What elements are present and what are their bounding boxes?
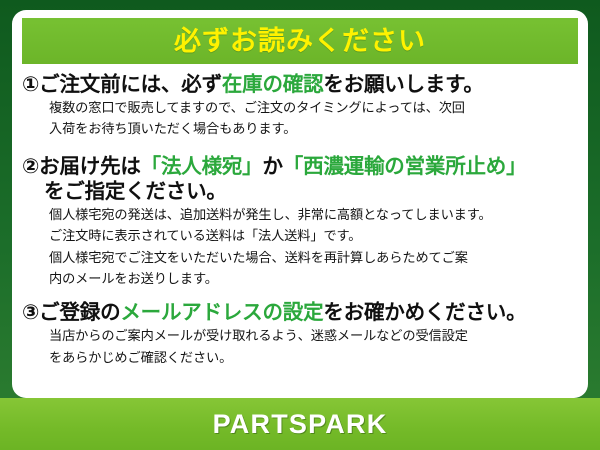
notice-item-3-heading: ③ご登録のメールアドレスの設定をお確かめください。 (22, 300, 578, 325)
spacer-1 (22, 142, 578, 154)
notice-item-1-sub-line-1: 複数の窓口で販売してますので、ご注文のタイミングによっては、次回 (22, 97, 578, 118)
notice-item-3-sub-line-1: 当店からのご案内メールが受け取れるよう、迷惑メールなどの受信設定 (22, 325, 578, 346)
item-1-text-after: をお願いします。 (323, 73, 483, 96)
notice-item-3: ③ご登録のメールアドレスの設定をお確かめください。 当店からのご案内メールが受け… (22, 300, 578, 368)
item-2-highlight-2: 「西濃運輸の営業所止め」 (283, 155, 527, 178)
notice-item-1-heading: ①ご注文前には、必ず在庫の確認をお願いします。 (22, 72, 578, 97)
notice-card: 必ずお読みください ①ご注文前には、必ず在庫の確認をお願いします。 複数の窓口で… (12, 10, 588, 398)
notice-image: 必ずお読みください ①ご注文前には、必ず在庫の確認をお願いします。 複数の窓口で… (0, 0, 600, 450)
notice-item-2-sub-line-1: 個人様宅宛の発送は、追加送料が発生し、非常に高額となってしまいます。 (22, 204, 578, 225)
item-3-highlight: メールアドレスの設定 (120, 301, 323, 324)
notice-item-1-sub-line-2: 入荷をお待ち頂いただく場合もあります。 (22, 118, 578, 139)
notice-item-1: ①ご注文前には、必ず在庫の確認をお願いします。 複数の窓口で販売してますので、ご… (22, 72, 578, 140)
item-number-3: ③ (22, 301, 39, 324)
item-1-highlight: 在庫の確認 (222, 73, 324, 96)
item-3-text-before: ご登録の (39, 301, 120, 324)
item-2-text-before: お届け先は (39, 155, 141, 178)
item-number-2: ② (22, 155, 39, 178)
item-2-highlight: 「法人様宛」 (141, 155, 263, 178)
notice-item-2: ②お届け先は「法人様宛」か「西濃運輸の営業所止め」 をご指定ください。 個人様宅… (22, 154, 578, 290)
banner: 必ずお読みください (22, 18, 578, 64)
footer-band: PARTSPARK (0, 398, 600, 450)
notice-item-2-sub-line-3: 個人様宅宛でご注文をいただいた場合、送料を再計算しあらためてご案 (22, 247, 578, 268)
notice-item-2-heading: ②お届け先は「法人様宛」か「西濃運輸の営業所止め」 (22, 154, 578, 179)
notice-item-2-heading-line2: をご指定ください。 (22, 179, 578, 204)
brand-logo: PARTSPARK (213, 409, 388, 440)
item-3-text-after: をお確かめください。 (323, 301, 526, 324)
item-2-text-middle: か (262, 155, 282, 178)
notice-body: ①ご注文前には、必ず在庫の確認をお願いします。 複数の窓口で販売してますので、ご… (12, 72, 588, 370)
notice-item-2-sub-line-2: ご注文時に表示されている送料は「法人送料」です。 (22, 225, 578, 246)
notice-item-3-sub-line-2: をあらかじめご確認ください。 (22, 347, 578, 368)
notice-item-2-sub-line-4: 内のメールをお送りします。 (22, 268, 578, 289)
item-number-1: ① (22, 73, 39, 96)
item-1-text-before: ご注文前には、必ず (39, 73, 222, 96)
item-2-text-line2: をご指定ください。 (22, 179, 227, 204)
spacer-2 (22, 291, 578, 300)
banner-title: 必ずお読みください (174, 28, 426, 55)
